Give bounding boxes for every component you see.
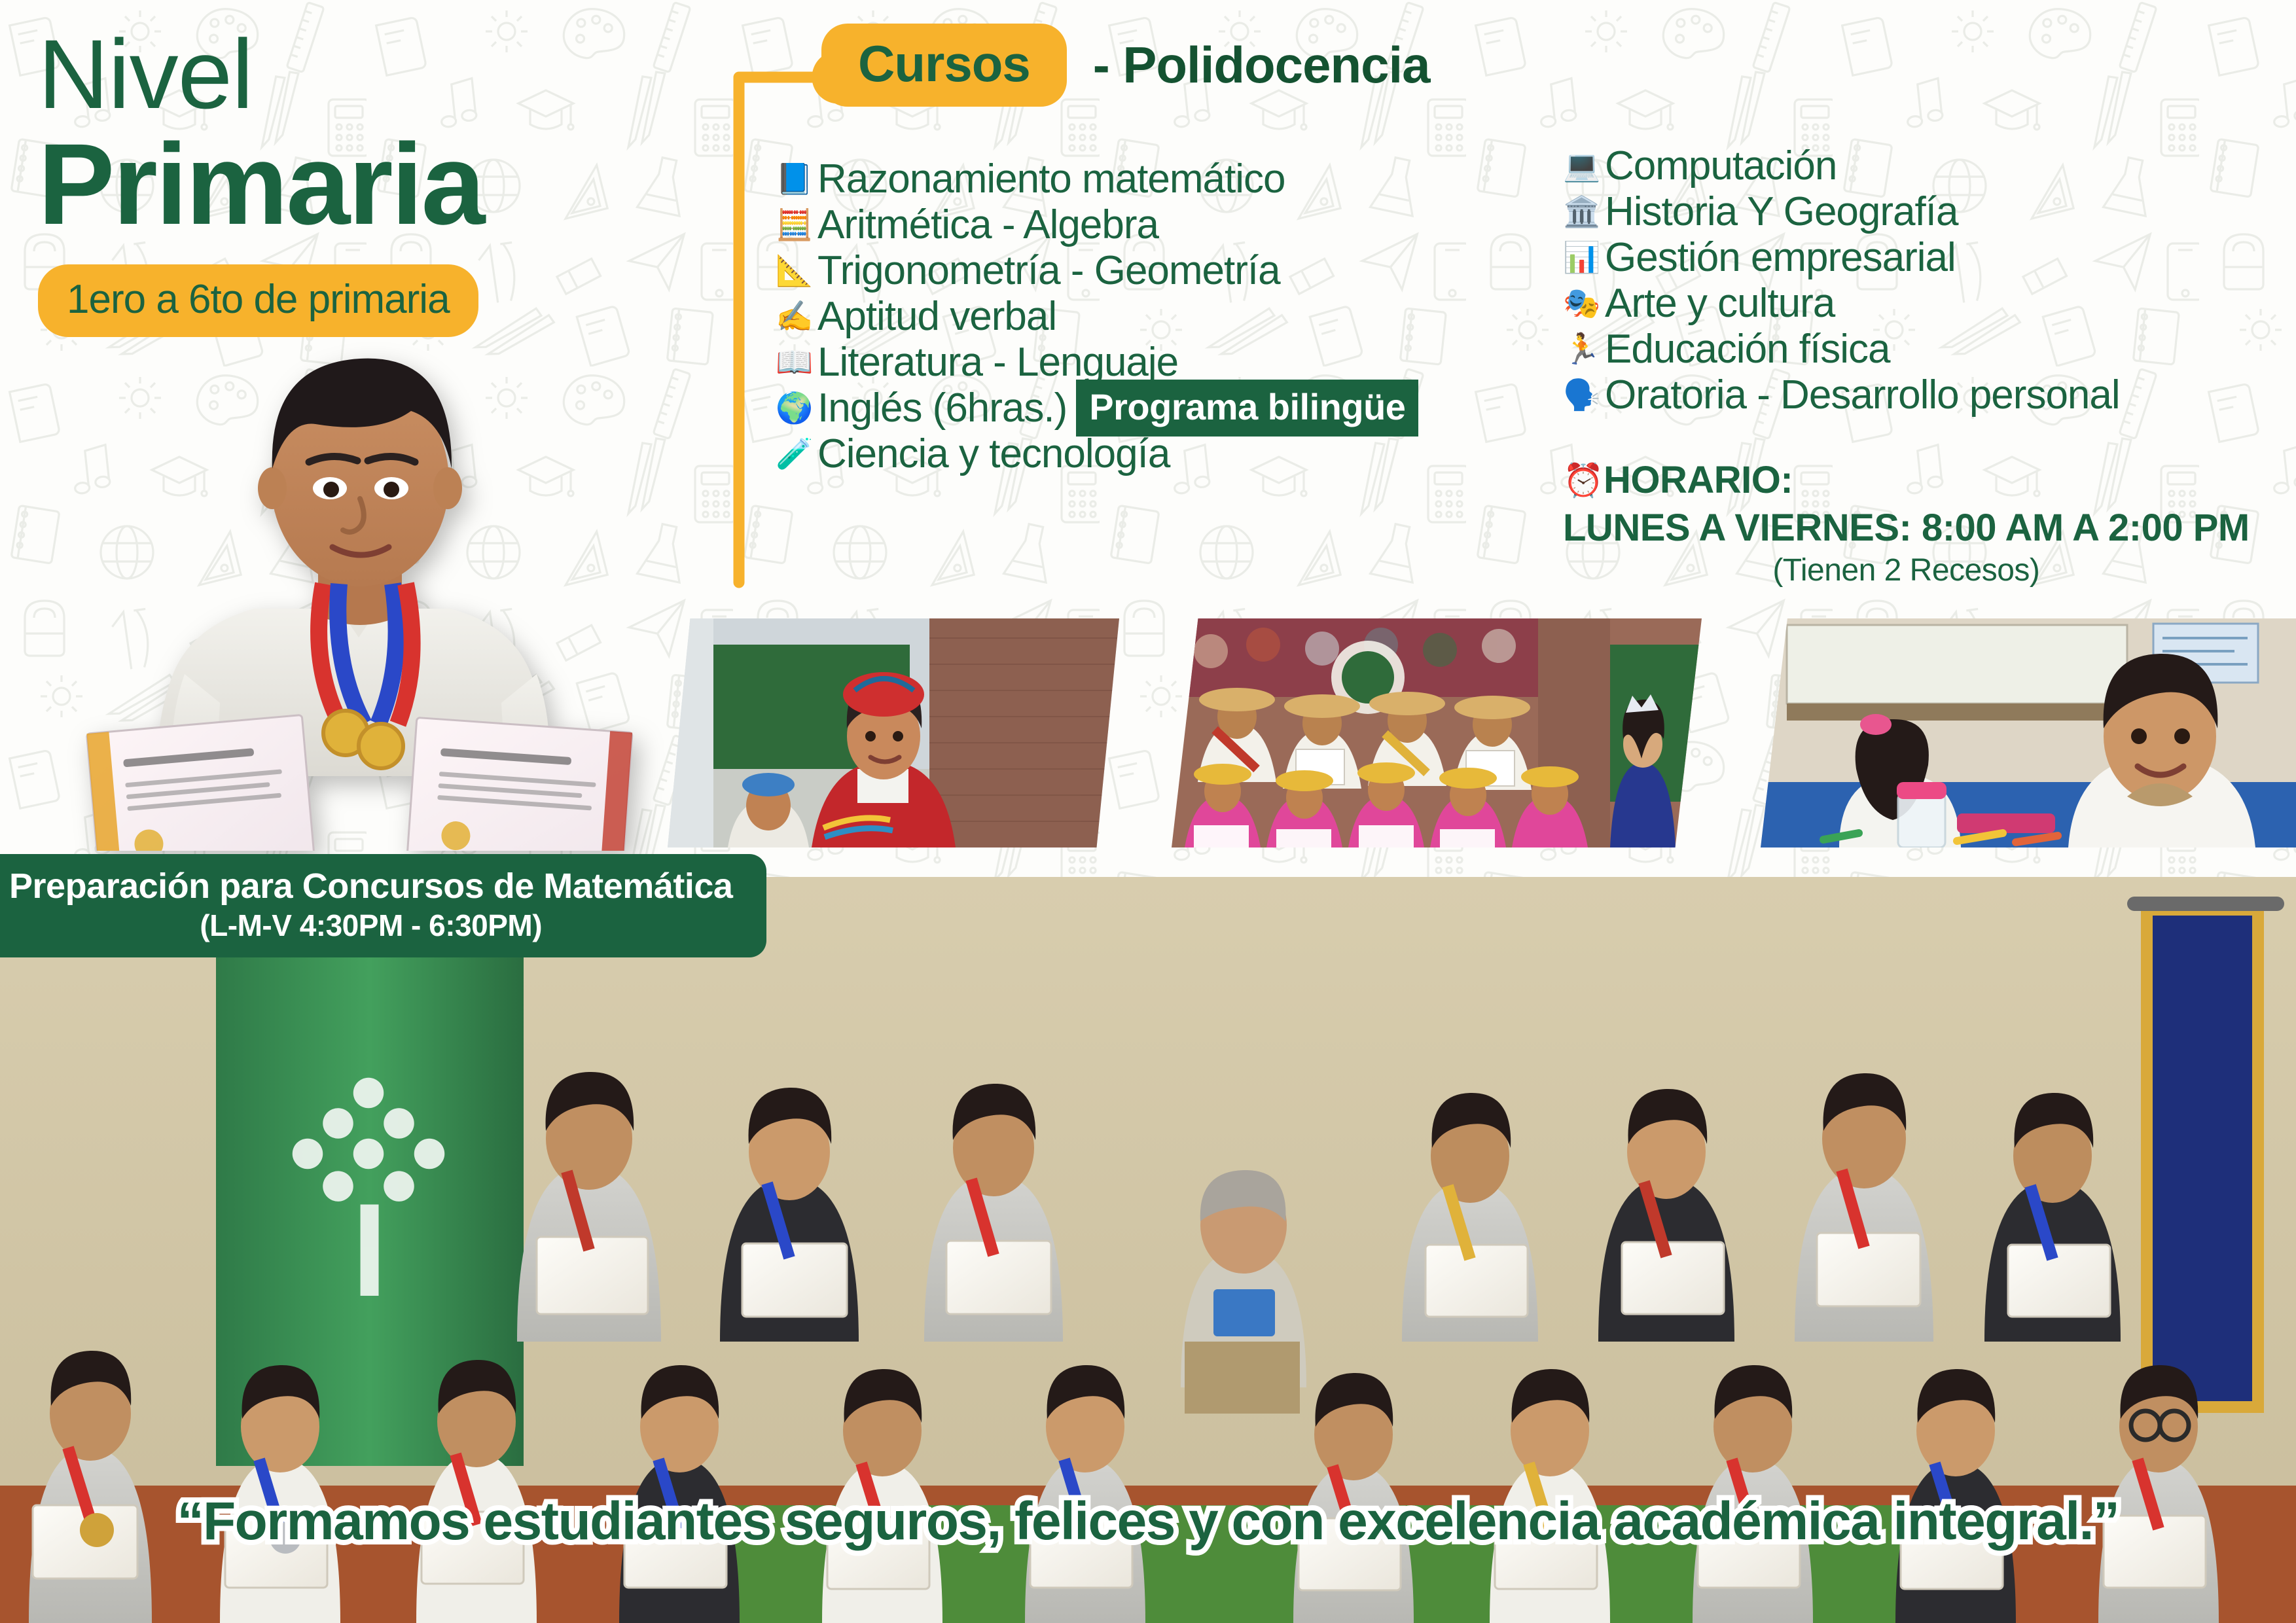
course-label: Aptitud verbal <box>817 293 1056 340</box>
course-label: Arte y cultura <box>1605 280 1835 327</box>
closed-book-icon: 📘 <box>776 164 814 194</box>
course-item-aritmetica-algebra: 🧮 Aritmética - Algebra <box>776 202 1418 247</box>
test-tube-icon: 🧪 <box>776 438 814 469</box>
course-label: Ciencia y tecnología <box>817 431 1170 477</box>
abacus-icon: 🧮 <box>776 209 814 240</box>
math-contest-banner: Preparación para Concursos de Matemática… <box>0 854 766 957</box>
courses-column-right: 💻 Computación 🏛️ Historia Y Geografía 📊 … <box>1563 143 2120 418</box>
level-label-small: Nivel <box>38 25 679 123</box>
student-with-diplomas-photo <box>85 327 635 851</box>
course-item-trigonometria-geometria: 📐 Trigonometría - Geometría <box>776 247 1418 293</box>
tagline-quote: “Formamos estudiantes seguros, felices y… <box>0 1491 2296 1552</box>
math-contest-schedule: (L-M-V 4:30PM - 6:30PM) <box>9 908 732 943</box>
course-label: Inglés (6hras.) <box>817 385 1067 431</box>
course-label: Literatura - Lenguaje <box>817 339 1178 385</box>
strip-item-classroom-students <box>1761 618 2296 847</box>
course-label: Aritmética - Algebra <box>817 202 1158 248</box>
schedule-days: LUNES A VIERNES: 8:00 AM A 2:00 PM <box>1563 506 2250 550</box>
alarm-clock-icon: ⏰ <box>1563 464 1600 497</box>
course-item-gestion-empresarial: 📊 Gestión empresarial <box>1563 234 2120 280</box>
course-label: Gestión empresarial <box>1605 234 1956 281</box>
grade-range-badge: 1ero a 6to de primaria <box>38 264 478 337</box>
course-item-literatura-lenguaje: 📖 Literatura - Lenguaje <box>776 339 1418 385</box>
bar-chart-icon: 📊 <box>1563 242 1601 272</box>
course-label: Oratoria - Desarrollo personal <box>1605 372 2120 418</box>
course-item-oratoria-desarrollo-personal: 🗣️ Oratoria - Desarrollo personal <box>1563 372 2120 418</box>
course-item-razonamiento-matematico: 📘 Razonamiento matemático <box>776 156 1418 202</box>
course-item-historia-geografia: 🏛️ Historia Y Geografía <box>1563 188 2120 234</box>
course-item-educacion-fisica: 🏃 Educación física <box>1563 326 2120 372</box>
math-contest-title: Preparación para Concursos de Matemática <box>9 866 732 906</box>
open-book-icon: 📖 <box>776 347 814 377</box>
writing-hand-icon: ✍️ <box>776 301 814 331</box>
polidocencia-label: - Polidocencia <box>1093 35 1430 95</box>
strip-item-folk-dance-girl <box>668 618 1119 847</box>
programa-bilingue-badge: Programa bilingüe <box>1076 380 1418 437</box>
page-title: Primaria <box>38 127 679 242</box>
course-label: Trigonometría - Geometría <box>817 247 1280 294</box>
courses-header: Cursos - Polidocencia <box>821 24 1430 107</box>
courses-column-left: 📘 Razonamiento matemático 🧮 Aritmética -… <box>776 156 1418 476</box>
laptop-icon: 💻 <box>1563 151 1601 181</box>
theater-masks-icon: 🎭 <box>1563 288 1601 318</box>
courses-pill-label: Cursos <box>821 24 1067 107</box>
course-label: Educación física <box>1605 326 1890 372</box>
course-item-aptitud-verbal: ✍️ Aptitud verbal <box>776 293 1418 339</box>
schedule-title: HORARIO: <box>1604 458 1793 502</box>
course-item-arte-cultura: 🎭 Arte y cultura <box>1563 280 2120 326</box>
course-label: Historia Y Geografía <box>1605 188 1958 235</box>
poster-canvas: Nivel Primaria 1ero a 6to de primaria <box>0 0 2296 1623</box>
speaking-head-icon: 🗣️ <box>1563 380 1601 410</box>
globe-icon: 🌍 <box>776 393 814 423</box>
course-item-ingles: 🌍 Inglés (6hras.) Programa bilingüe <box>776 385 1418 431</box>
classical-building-icon: 🏛️ <box>1563 196 1601 226</box>
strip-item-folk-group-ceremony <box>1172 618 1702 847</box>
page-title-block: Nivel Primaria 1ero a 6to de primaria <box>38 25 679 337</box>
course-label: Razonamiento matemático <box>817 156 1285 202</box>
ruler-icon: 📐 <box>776 255 814 285</box>
schedule-title-row: ⏰ HORARIO: <box>1563 458 2250 502</box>
course-item-computacion: 💻 Computación <box>1563 143 2120 188</box>
schedule-note: (Tienen 2 Recesos) <box>1563 552 2250 588</box>
runner-icon: 🏃 <box>1563 334 1601 364</box>
schedule-block: ⏰ HORARIO: LUNES A VIERNES: 8:00 AM A 2:… <box>1563 458 2250 588</box>
course-label: Computación <box>1605 143 1837 189</box>
course-item-ciencia-tecnologia: 🧪 Ciencia y tecnología <box>776 431 1418 476</box>
